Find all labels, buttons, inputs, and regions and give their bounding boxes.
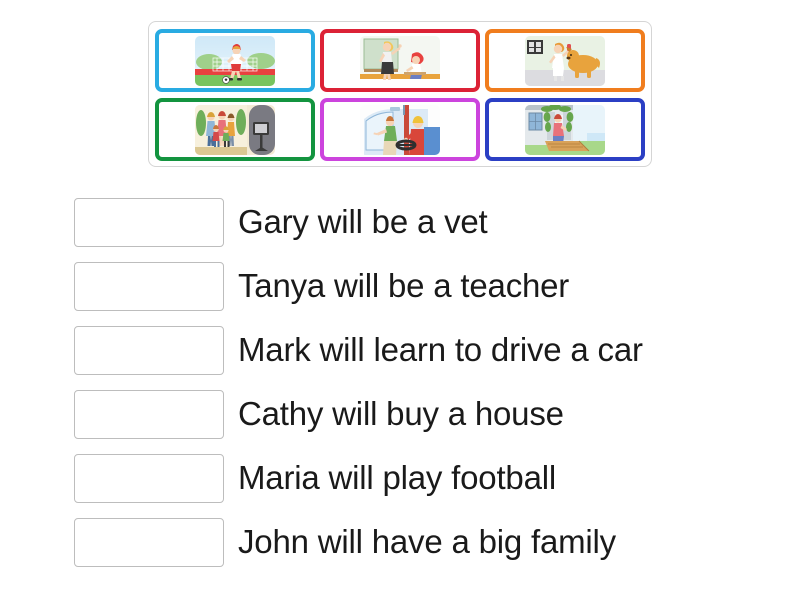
statement-mark: Mark will learn to drive a car	[238, 333, 643, 368]
house-porch-image	[525, 105, 605, 155]
big-family-photo-image	[195, 105, 275, 155]
driving-lesson-car-image	[360, 105, 440, 155]
dropzone-gary[interactable]	[74, 198, 224, 247]
dropzone-tanya[interactable]	[74, 262, 224, 311]
tile-football[interactable]	[155, 29, 315, 92]
dropzone-john[interactable]	[74, 518, 224, 567]
tile-tray	[148, 21, 652, 167]
statement-john: John will have a big family	[238, 525, 616, 560]
statement-row: Mark will learn to drive a car	[74, 318, 774, 382]
statement-tanya: Tanya will be a teacher	[238, 269, 569, 304]
statement-gary: Gary will be a vet	[238, 205, 488, 240]
statement-cathy: Cathy will buy a house	[238, 397, 564, 432]
dropzone-mark[interactable]	[74, 326, 224, 375]
statement-row: Tanya will be a teacher	[74, 254, 774, 318]
dropzone-cathy[interactable]	[74, 390, 224, 439]
activity-page: Gary will be a vet Tanya will be a teach…	[0, 0, 800, 600]
statement-row: Gary will be a vet	[74, 190, 774, 254]
statement-maria: Maria will play football	[238, 461, 556, 496]
tile-teacher[interactable]	[320, 29, 480, 92]
tile-vet[interactable]	[485, 29, 645, 92]
tile-family[interactable]	[155, 98, 315, 161]
football-player-image	[195, 36, 275, 86]
teacher-at-blackboard-image	[360, 36, 440, 86]
statement-row: Maria will play football	[74, 446, 774, 510]
statement-row: John will have a big family	[74, 510, 774, 574]
vet-with-dog-image	[525, 36, 605, 86]
dropzone-maria[interactable]	[74, 454, 224, 503]
statement-row: Cathy will buy a house	[74, 382, 774, 446]
tile-house[interactable]	[485, 98, 645, 161]
tile-driving[interactable]	[320, 98, 480, 161]
statement-row-list: Gary will be a vet Tanya will be a teach…	[74, 190, 774, 574]
